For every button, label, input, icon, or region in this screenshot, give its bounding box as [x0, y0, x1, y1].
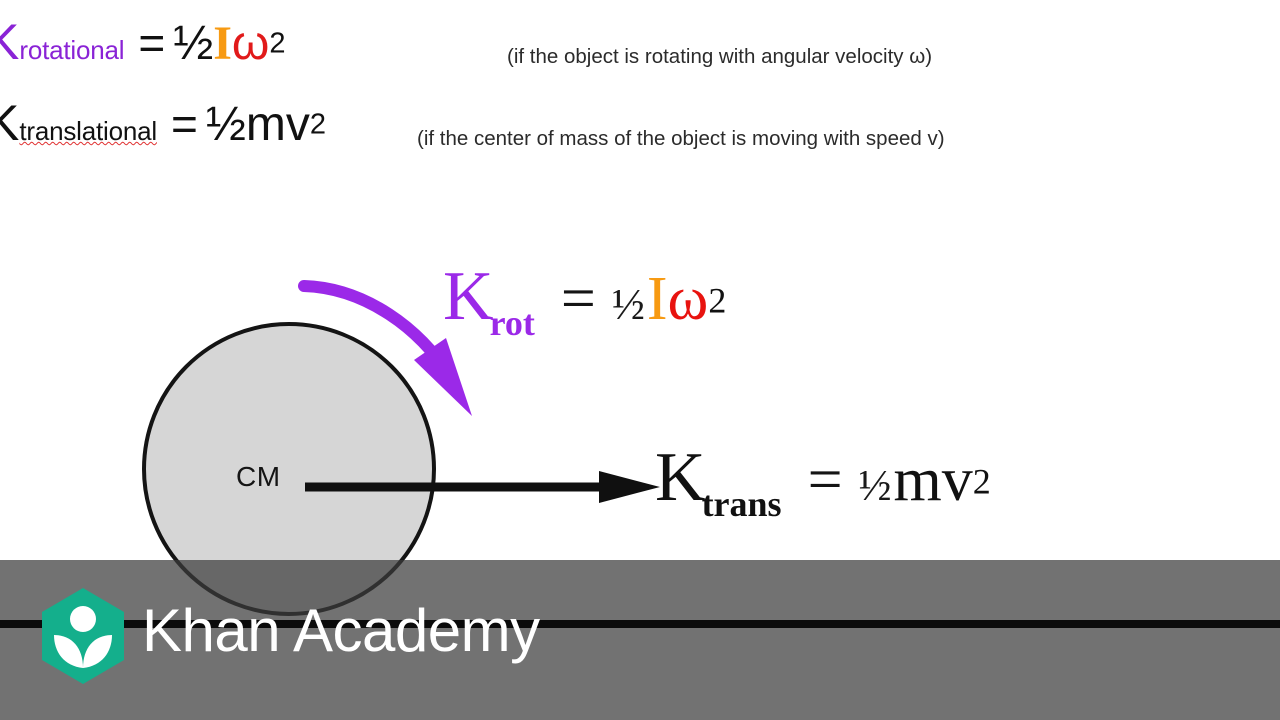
equation-k-trans-exponent: 2 — [973, 462, 991, 502]
formula-translational-symbol: K — [0, 95, 19, 151]
equation-k-trans-subscript: trans — [702, 484, 782, 524]
formula-translational-exponent: 2 — [310, 109, 326, 141]
formula-rotational: Krotational=½Iω2 — [0, 16, 286, 71]
khan-academy-wordmark: Khan Academy — [142, 596, 540, 665]
center-of-mass-label: CM — [236, 461, 281, 493]
equation-k-rot-symbol: K — [443, 258, 494, 335]
equation-k-rot-exponent: 2 — [708, 281, 726, 321]
formula-rotational-symbol: K — [0, 14, 19, 70]
equation-k-rot-half: ½ — [612, 280, 645, 329]
equation-k-rot-inertia: I — [647, 265, 668, 333]
velocity-arrow — [305, 470, 660, 504]
formula-translational-subscript: translational — [19, 116, 157, 146]
note-rotational: (if the object is rotating with angular … — [507, 45, 932, 69]
equation-k-trans-mass: m — [894, 446, 942, 514]
formula-rotational-equals: = — [138, 17, 165, 69]
formula-rotational-half: ½ — [173, 17, 213, 70]
formula-rotational-subscript: rotational — [19, 35, 124, 65]
equation-k-rot-subscript: rot — [490, 303, 535, 343]
equation-k-trans-symbol: K — [655, 439, 706, 516]
equation-k-trans-velocity: v — [942, 446, 973, 514]
note-translational: (if the center of mass of the object is … — [417, 127, 945, 151]
equation-k-rot-equals: = — [561, 265, 596, 333]
formula-translational: Ktranslational=½mv2 — [0, 97, 326, 152]
equation-k-trans-equals: = — [808, 446, 843, 514]
equation-k-trans-half: ½ — [859, 461, 892, 510]
equation-k-rot-omega: ω — [668, 265, 709, 333]
formula-translational-half: ½ — [206, 98, 246, 151]
formula-rotational-omega: ω — [232, 17, 269, 70]
equation-k-trans: Ktrans=½mv2 — [655, 443, 991, 516]
formula-translational-equals: = — [171, 98, 198, 150]
formula-translational-mass: m — [246, 98, 286, 151]
formula-rotational-inertia: I — [213, 17, 232, 70]
formula-rotational-exponent: 2 — [269, 28, 285, 60]
video-frame: Krotational=½Iω2 (if the object is rotat… — [0, 0, 1280, 720]
formula-translational-velocity: v — [286, 98, 310, 151]
equation-k-rot: Krot=½Iω2 — [443, 262, 726, 335]
khan-academy-leaf-icon — [38, 586, 128, 686]
